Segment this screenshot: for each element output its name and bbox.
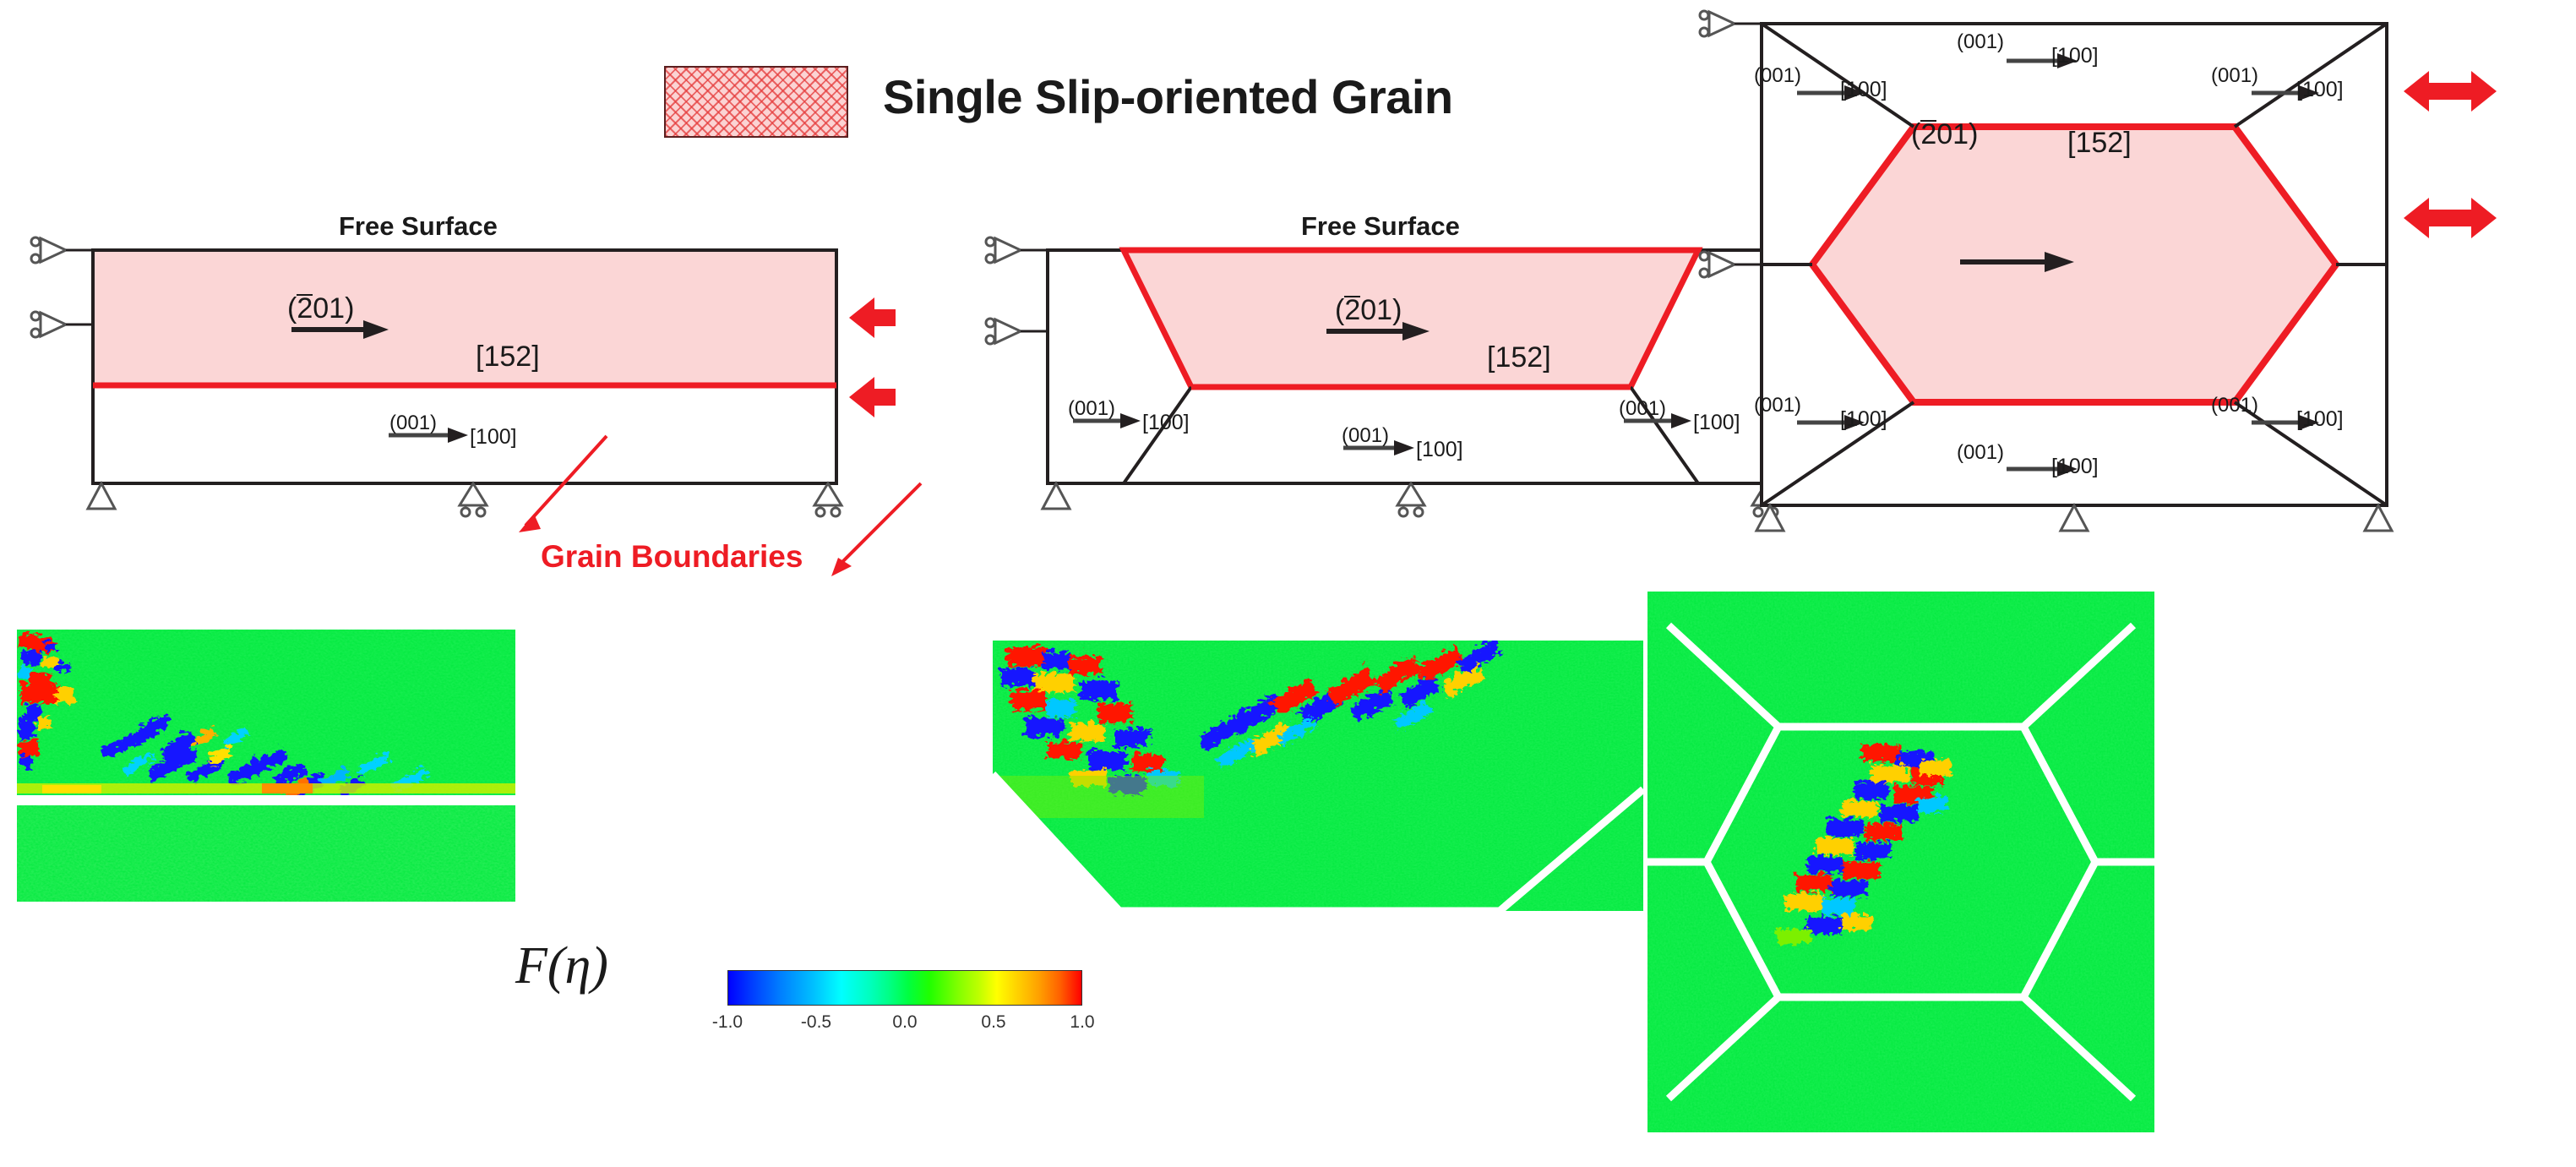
plane-paren-open: ( — [1911, 118, 1920, 150]
plane-bar-digit: 2 — [297, 294, 313, 322]
pin-support-icon — [1756, 505, 1784, 531]
plane-rest: 01) — [1360, 294, 1402, 326]
grain-boundary-callout-pointer — [507, 414, 693, 541]
matrix-direction-label-bottom: [100] — [2051, 455, 2099, 479]
direction-prefix: [1 — [1487, 341, 1511, 374]
bicrystal-contour-plot — [17, 630, 515, 902]
plane-paren-open: ( — [287, 292, 297, 324]
single-slip-grain-region — [1812, 127, 2336, 402]
matrix-direction-label-top: [100] — [2051, 44, 2099, 68]
matrix-plane-label-mid: (001) — [1342, 424, 1389, 448]
single-slip-grain-region — [1124, 250, 1698, 387]
direction-prefix: [1 — [2067, 127, 2091, 159]
matrix-plane-label-lower-left: (001) — [1754, 394, 1801, 417]
matrix-direction-label-mid: [100] — [1416, 438, 1463, 462]
matrix-plane-label-upper-right: (001) — [2211, 64, 2258, 88]
colorbar-tick-2: 0.0 — [892, 1012, 917, 1033]
matrix-plane-label: (001) — [389, 412, 437, 435]
direction-bar-digit: 5 — [2091, 127, 2107, 159]
roller-support-icon — [31, 237, 66, 263]
load-arrow-icon — [2404, 198, 2497, 238]
pin-support-icon — [2061, 505, 2088, 531]
pin-support-icon — [88, 483, 115, 509]
matrix-direction-label-left: [100] — [1142, 411, 1190, 435]
panel-hexagon-schematic — [1660, 8, 2576, 549]
direction-prefix: [1 — [476, 341, 499, 373]
matrix-direction-label-lower-left: [100] — [1840, 407, 1887, 432]
hexagon-contour-plot — [1647, 592, 2154, 1132]
matrix-direction-label-lower-right: [100] — [2296, 407, 2344, 432]
plane-paren-open: ( — [1335, 294, 1344, 326]
figure-legend-title: Single Slip-oriented Grain — [883, 69, 1453, 124]
colorbar-gradient — [727, 970, 1082, 1006]
free-surface-label: Free Surface — [339, 211, 498, 242]
trapezoid-contour-plot — [993, 641, 1643, 911]
load-arrow-icon — [2404, 71, 2497, 112]
load-arrow-icon — [849, 377, 896, 417]
grain-boundary-callout-pointer-2 — [743, 473, 946, 583]
slip-plane-label: (201) — [1335, 294, 1402, 327]
single-slip-grain-swatch — [664, 66, 848, 138]
matrix-plane-label-upper-left: (001) — [1754, 64, 1801, 88]
colorbar-tick-1: -0.5 — [801, 1012, 831, 1033]
figure-canvas: Single Slip-oriented Grain — [0, 0, 2576, 1167]
slip-direction-label: [152] — [476, 341, 540, 374]
load-arrow-icon — [849, 297, 896, 338]
matrix-plane-label-right: (001) — [1619, 397, 1666, 421]
colorbar-tick-4: 1.0 — [1070, 1012, 1094, 1033]
slip-direction-label: [152] — [2067, 127, 2132, 160]
matrix-direction-label-upper-right: [100] — [2296, 78, 2344, 102]
matrix-plane-label-left: (001) — [1068, 397, 1115, 421]
colorbar-tick-3: 0.5 — [981, 1012, 1005, 1033]
direction-rest: 2] — [1527, 341, 1550, 374]
direction-rest: 2] — [515, 341, 539, 373]
roller-support-icon — [31, 312, 66, 337]
roller-support-icon — [1700, 11, 1735, 36]
roller-support-icon — [986, 237, 1021, 263]
colorbar-label-text: F(η) — [515, 937, 608, 995]
slip-plane-label: (201) — [287, 292, 354, 325]
single-slip-grain-region — [93, 250, 836, 385]
plane-bar-digit: 2 — [1920, 120, 1936, 148]
matrix-plane-label-top: (001) — [1957, 30, 2004, 54]
direction-bar-digit: 5 — [499, 341, 515, 373]
matrix-direction-label-upper-left: [100] — [1840, 78, 1887, 102]
direction-bar-digit: 5 — [1511, 341, 1527, 374]
plane-rest: 01) — [1936, 118, 1978, 150]
roller-support-icon — [986, 319, 1021, 344]
pin-support-icon — [2365, 505, 2392, 531]
colorbar-tick-0: -1.0 — [712, 1012, 743, 1033]
plane-bar-digit: 2 — [1344, 296, 1360, 324]
plane-rest: 01) — [313, 292, 354, 324]
roller-support-icon — [1397, 483, 1424, 516]
colorbar-axis-label: F(η) — [515, 936, 608, 996]
direction-rest: 2] — [2107, 127, 2131, 159]
pin-support-icon — [1043, 483, 1070, 509]
free-surface-label: Free Surface — [1301, 211, 1460, 242]
slip-plane-label: (201) — [1911, 118, 1978, 151]
roller-support-icon — [1700, 252, 1735, 277]
colorbar — [727, 970, 1082, 1006]
slip-direction-label: [152] — [1487, 341, 1551, 374]
matrix-plane-label-lower-right: (001) — [2211, 394, 2258, 417]
grain-boundary-line — [17, 795, 515, 805]
matrix-plane-label-bottom: (001) — [1957, 441, 2004, 465]
roller-support-icon — [460, 483, 487, 516]
